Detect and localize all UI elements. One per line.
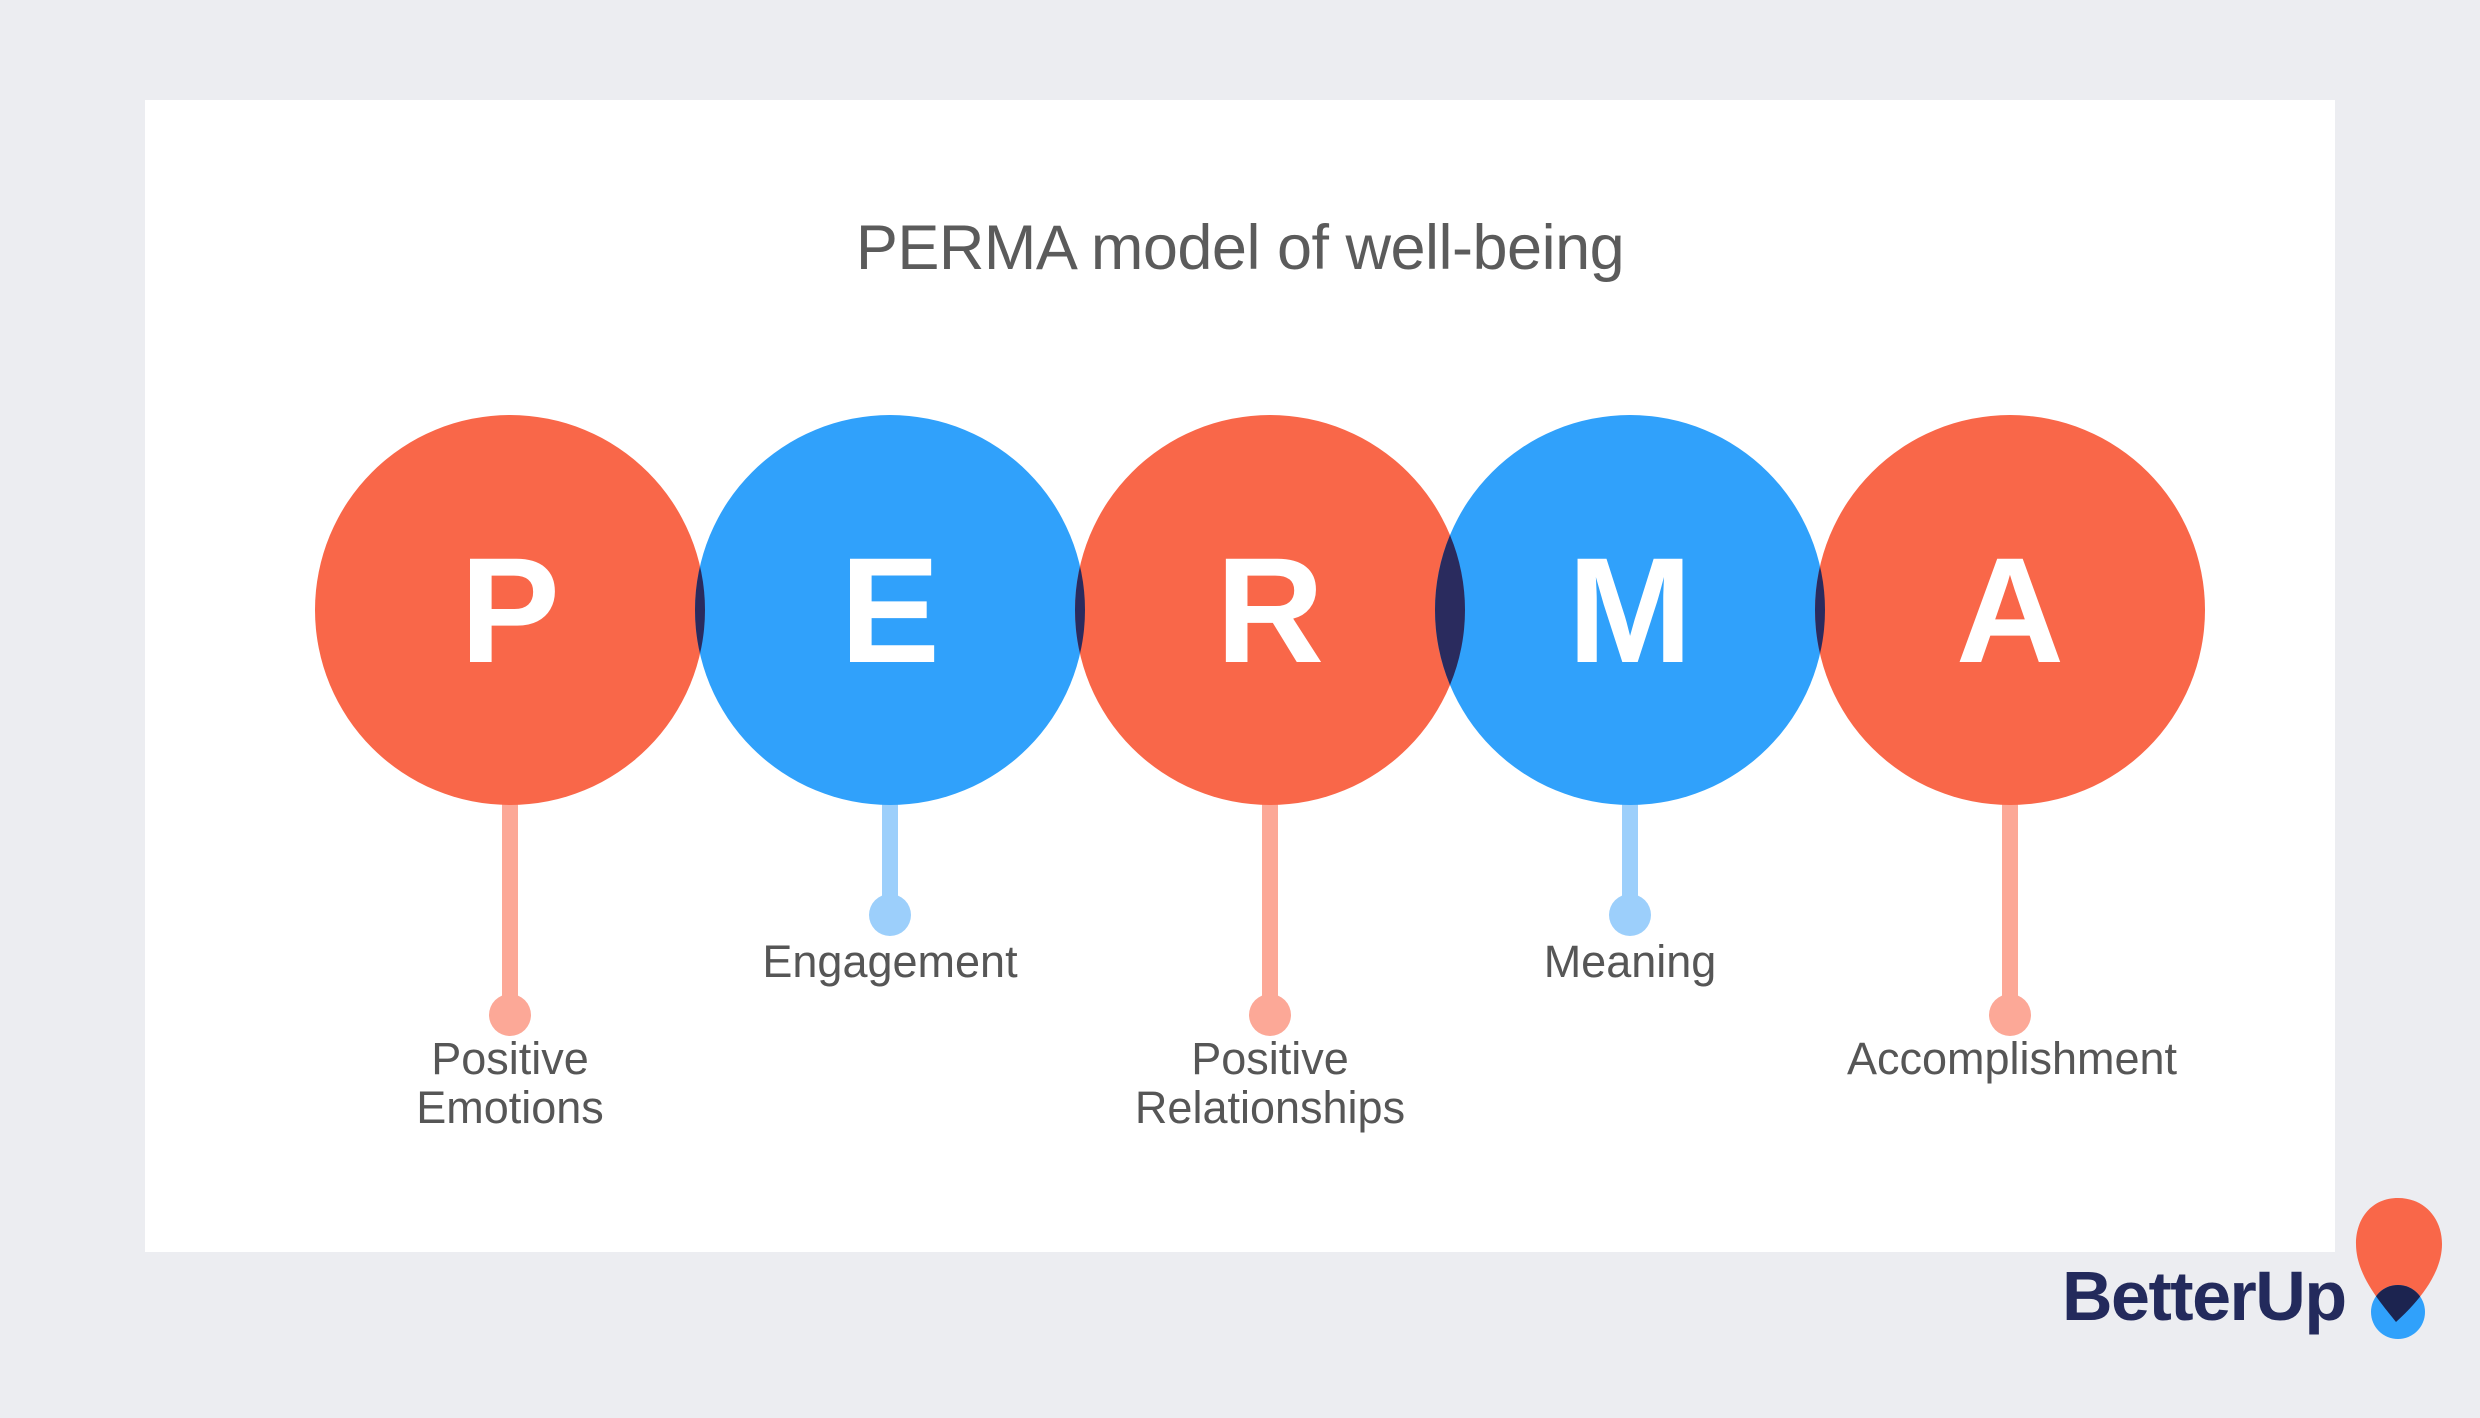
circle-letter-e: E [790,535,990,685]
betterup-logo[interactable]: BetterUp [2062,1196,2462,1356]
connector-dot-engagement [869,894,911,936]
circle-letter-r: R [1170,535,1370,685]
betterup-wordmark: BetterUp [2062,1256,2346,1336]
connector-dot-positive-emotions [489,994,531,1036]
label-positive-relationships: Positive Relationships [1020,1035,1520,1132]
circle-letter-p: P [410,535,610,685]
betterup-teardrop-icon [2352,1196,2447,1346]
label-meaning: Meaning [1380,938,1880,987]
circle-letter-m: M [1530,535,1730,685]
connector-dot-positive-relationships [1249,994,1291,1036]
connector-dot-meaning [1609,894,1651,936]
label-engagement: Engagement [640,938,1140,987]
label-positive-emotions: Positive Emotions [260,1035,760,1132]
circle-letter-a: A [1910,535,2110,685]
infographic-canvas: PERMA model of well-being [0,0,2480,1418]
connector-dot-accomplishment [1989,994,2031,1036]
label-accomplishment: Accomplishment [1742,1035,2282,1084]
